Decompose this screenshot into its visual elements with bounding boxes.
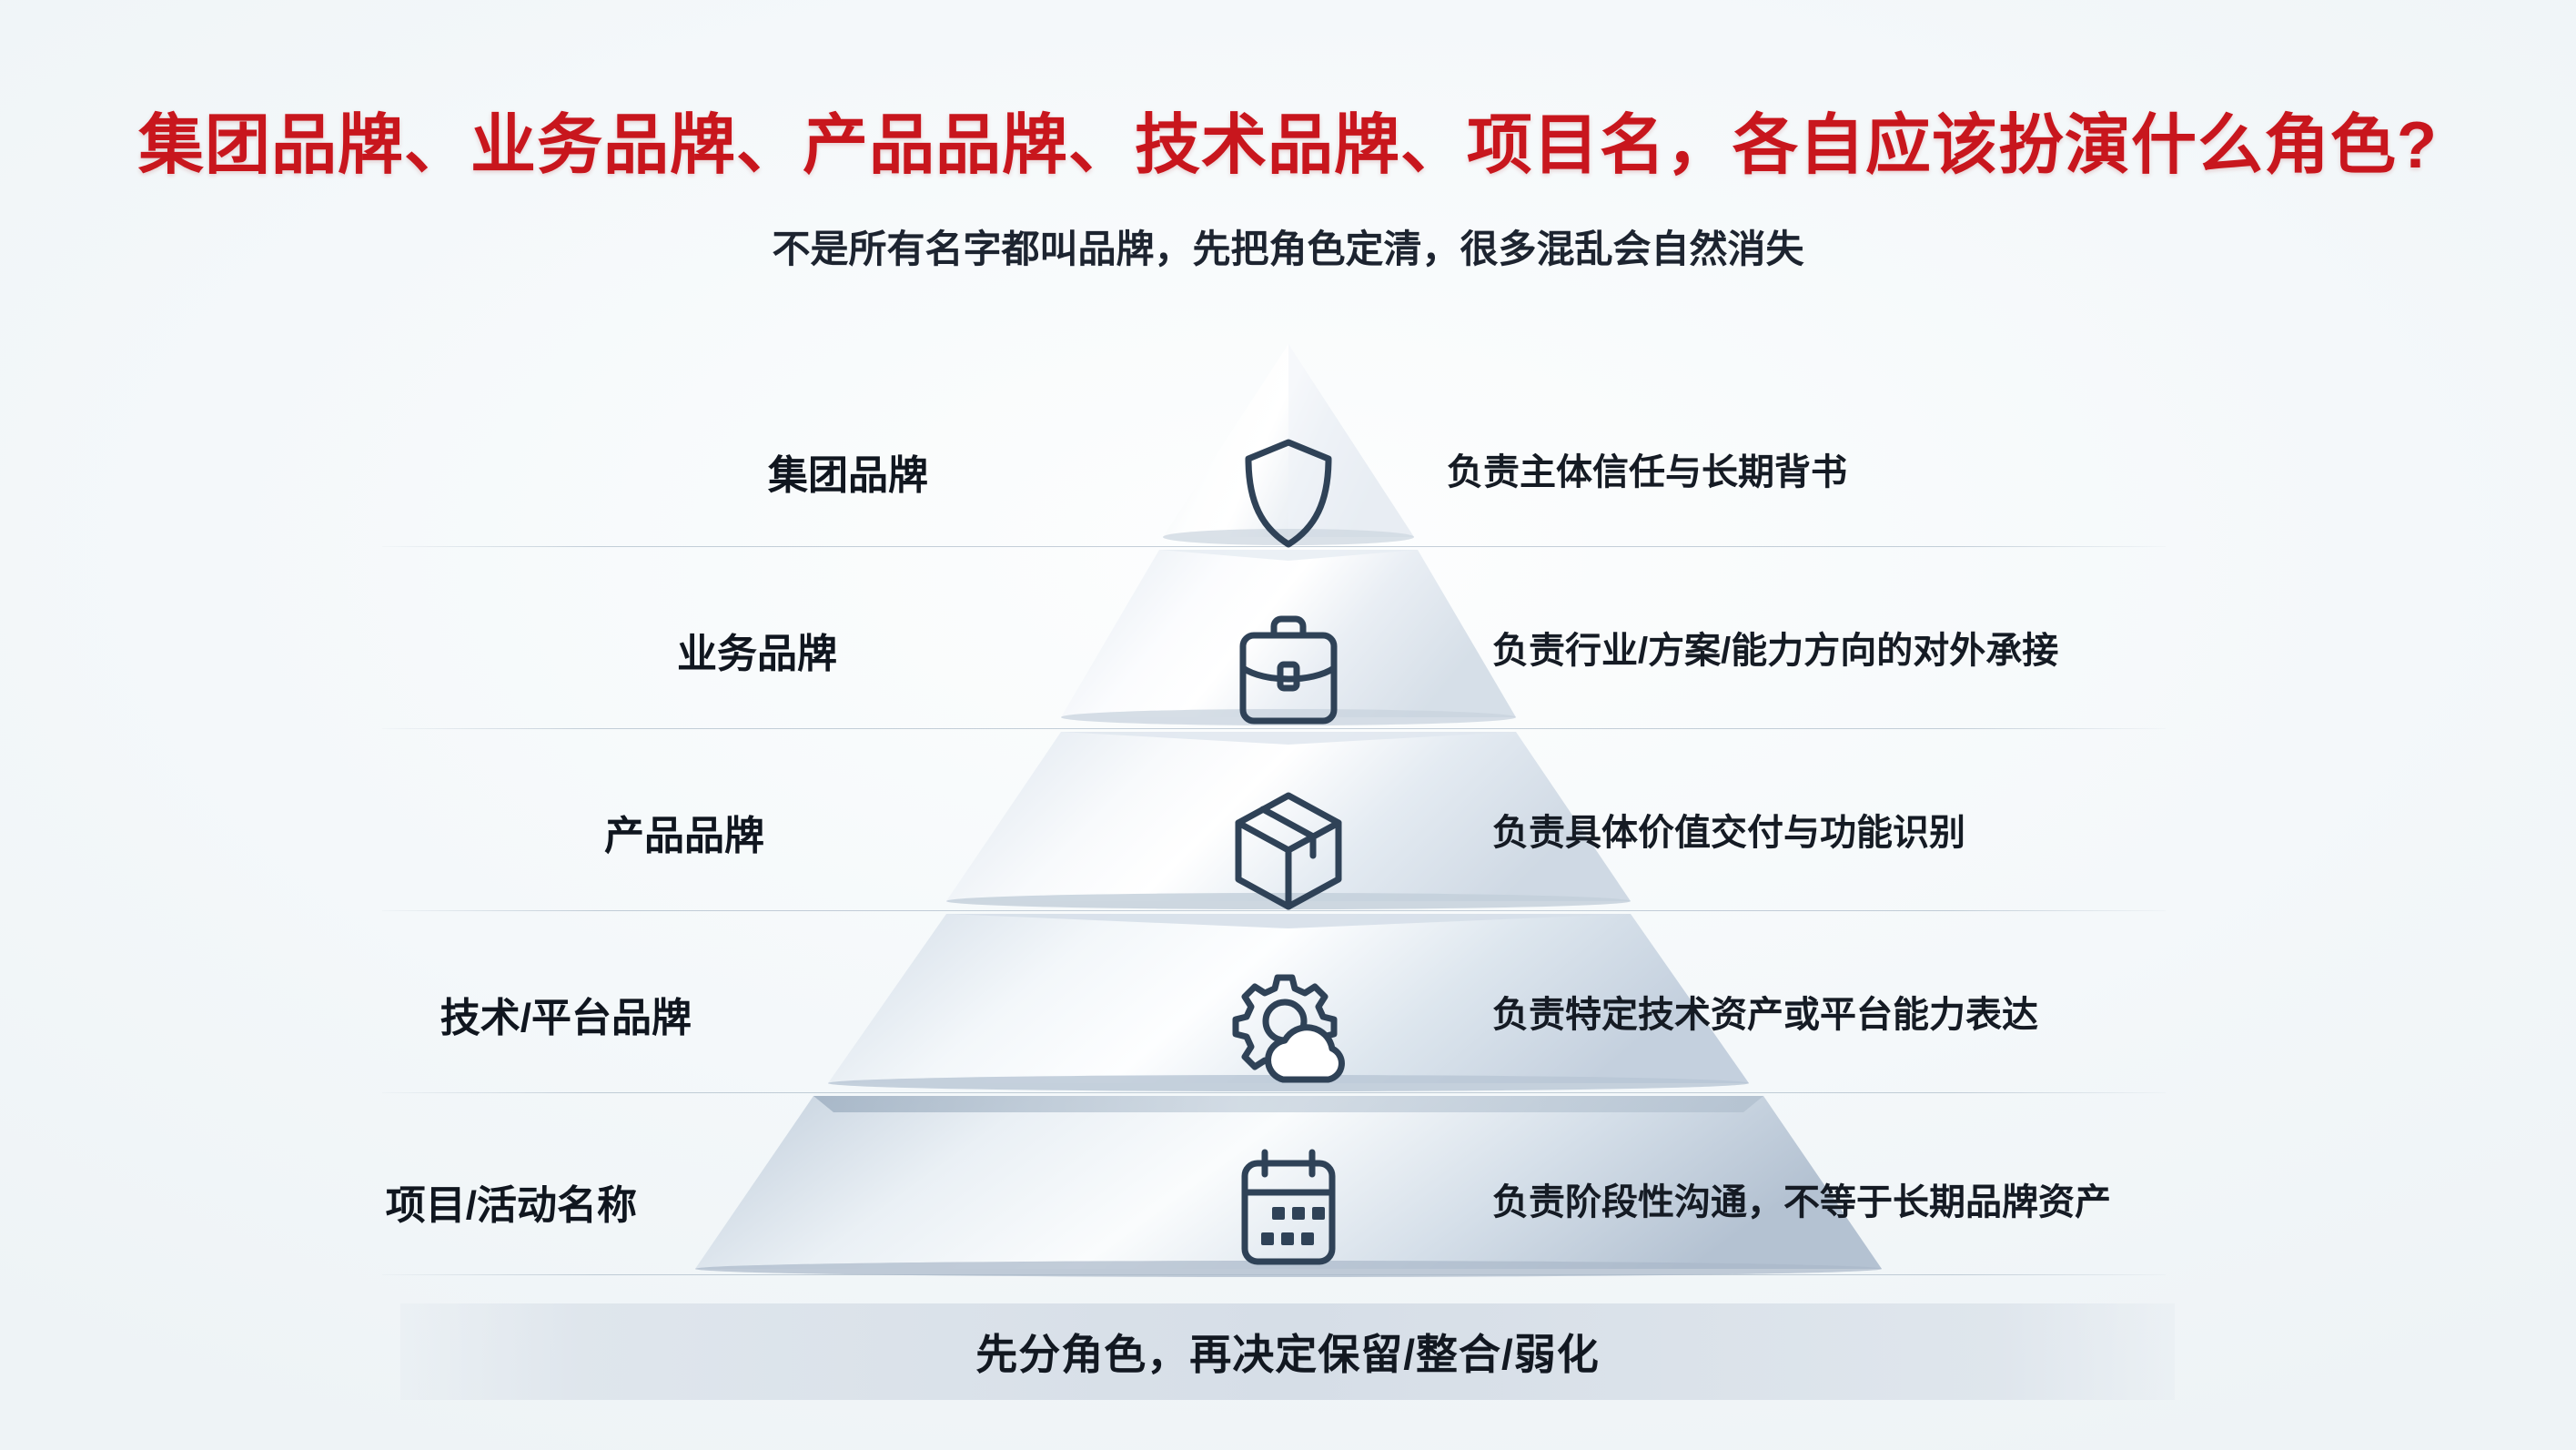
level-label-3: 产品品牌 (382, 803, 764, 861)
shield-icon (1238, 435, 1339, 552)
level-description-4: 负责特定技术资产或平台能力表达 (1492, 985, 2038, 1038)
gear-cloud-icon (1230, 972, 1347, 1089)
level-label-1: 集团品牌 (546, 442, 928, 501)
row-divider-2 (382, 728, 2166, 729)
level-description-2: 负责行业/方案/能力方向的对外承接 (1492, 621, 2058, 674)
level-description-5: 负责阶段性沟通，不等于长期品牌资产 (1492, 1172, 2111, 1225)
level-label-5: 项目/活动名称 (182, 1172, 637, 1231)
level-description-3: 负责具体价值交付与功能识别 (1492, 803, 1965, 856)
level-description-1: 负责主体信任与长期背书 (1447, 442, 1847, 495)
briefcase-icon (1232, 612, 1345, 728)
pyramid-stage: 集团品牌 负责主体信任与长期背书 业务品牌 负责行业/方案/能力方向的对外承接 … (0, 0, 2576, 1450)
level-label-4: 技术/平台品牌 (237, 985, 692, 1043)
level-label-2: 业务品牌 (455, 621, 837, 679)
package-box-icon (1231, 790, 1346, 912)
footer-text: 先分角色，再决定保留/整合/弱化 (975, 1322, 1600, 1382)
footer-banner: 先分角色，再决定保留/整合/弱化 (400, 1303, 2175, 1400)
calendar-icon (1234, 1149, 1343, 1269)
slide-root: 集团品牌、业务品牌、产品品牌、技术品牌、项目名，各自应该扮演什么角色? 不是所有… (0, 0, 2576, 1450)
